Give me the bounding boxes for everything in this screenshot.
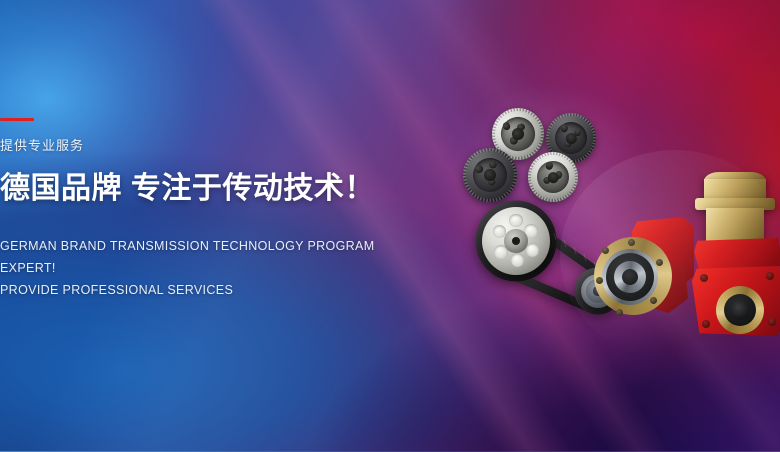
gearbox-front-red-housing [632,217,694,289]
timing-belt-small-pulley [581,274,615,308]
subtitle-block: GERMAN BRAND TRANSMISSION TECHNOLOGY PRO… [0,235,430,302]
hero-banner: 提供专业服务 德国品牌 专注于传动技术！ GERMAN BRAND TRANSM… [0,0,780,452]
timing-pulley-2 [541,108,600,167]
gearbox-front-steel-ring [602,249,658,305]
subtitle-line-1: GERMAN BRAND TRANSMISSION TECHNOLOGY PRO… [0,235,430,280]
gearbox-rear-hub-bore [724,294,756,326]
gearbox-rear-brass-collar [704,179,766,203]
gearbox-rear-output-housing [692,266,780,336]
right-angle-gearbox-rear [690,168,780,336]
gearbox-front-dark-disc [606,253,654,301]
timing-pulley-1 [485,101,551,167]
timing-pulley-4 [520,144,585,209]
gearbox-rear-brass-barrel [706,208,764,242]
banner-copy: 提供专业服务 德国品牌 专注于传动技术！ GERMAN BRAND TRANSM… [0,118,430,301]
gearbox-rear-shaft-bore [730,300,750,320]
subtitle-line-2: PROVIDE PROFESSIONAL SERVICES [0,279,430,301]
timing-belt-assembly [470,195,645,320]
gearbox-front-bore [622,269,638,285]
gearbox-front-brass-flange [594,237,672,315]
timing-belt [470,195,645,320]
timing-pulley-3 [460,145,519,204]
page-title: 德国品牌 专注于传动技术！ [0,173,430,205]
product-specular-sheen [560,150,780,360]
gearbox-rear-brass-cap [704,172,766,190]
eyebrow-text: 提供专业服务 [0,139,430,152]
pulley-cluster-glow [455,85,645,235]
accent-rule [0,118,34,121]
gearbox-rear-red-upper [694,238,780,272]
gearbox-rear-brass-hub [716,286,764,334]
gearbox-front-red-lower [640,261,688,313]
timing-belt-large-pulley [482,207,550,275]
gearbox-front-hub-ring [614,261,646,293]
gearbox-rear-brass-rib [695,198,775,210]
right-angle-gearbox-front [588,215,718,335]
